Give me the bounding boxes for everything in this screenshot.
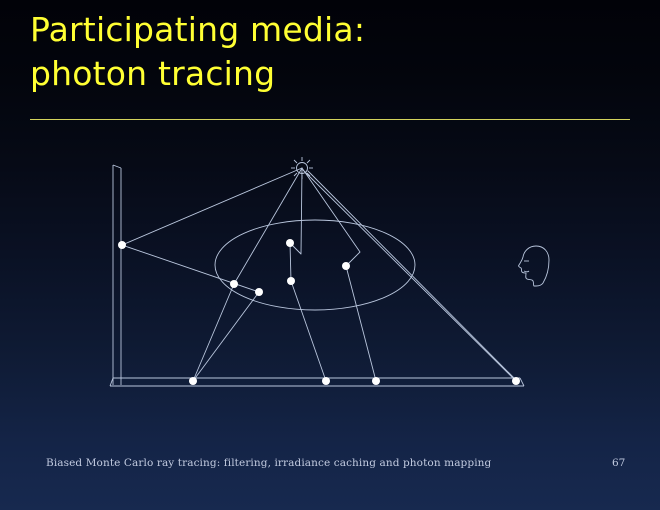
viewer-head-icon [519, 246, 549, 286]
slide: Participating media: photon tracing [0, 0, 660, 510]
photon-point [286, 239, 294, 247]
photon-point [189, 377, 197, 385]
ray-path-direct-b [308, 171, 519, 383]
photon-points [118, 239, 520, 385]
photon-point [322, 377, 330, 385]
ray-path-center-bend [290, 168, 326, 381]
scene-floor [110, 378, 524, 386]
photon-tracing-diagram [0, 0, 660, 510]
photon-ray-paths [122, 168, 519, 383]
photon-point [512, 377, 520, 385]
photon-point [118, 241, 126, 249]
scene-wall [113, 165, 121, 385]
photon-point [342, 262, 350, 270]
photon-point [230, 280, 238, 288]
ray-path-wall-bounce [122, 168, 302, 381]
photon-point [255, 288, 263, 296]
slide-footer: Biased Monte Carlo ray tracing: filterin… [0, 457, 660, 477]
photon-point [372, 377, 380, 385]
ray-path-right-bend [302, 168, 376, 381]
photon-point [287, 277, 295, 285]
footer-title: Biased Monte Carlo ray tracing: filterin… [46, 457, 491, 469]
footer-page-number: 67 [612, 457, 625, 469]
ray-path-direct-a [303, 170, 516, 381]
